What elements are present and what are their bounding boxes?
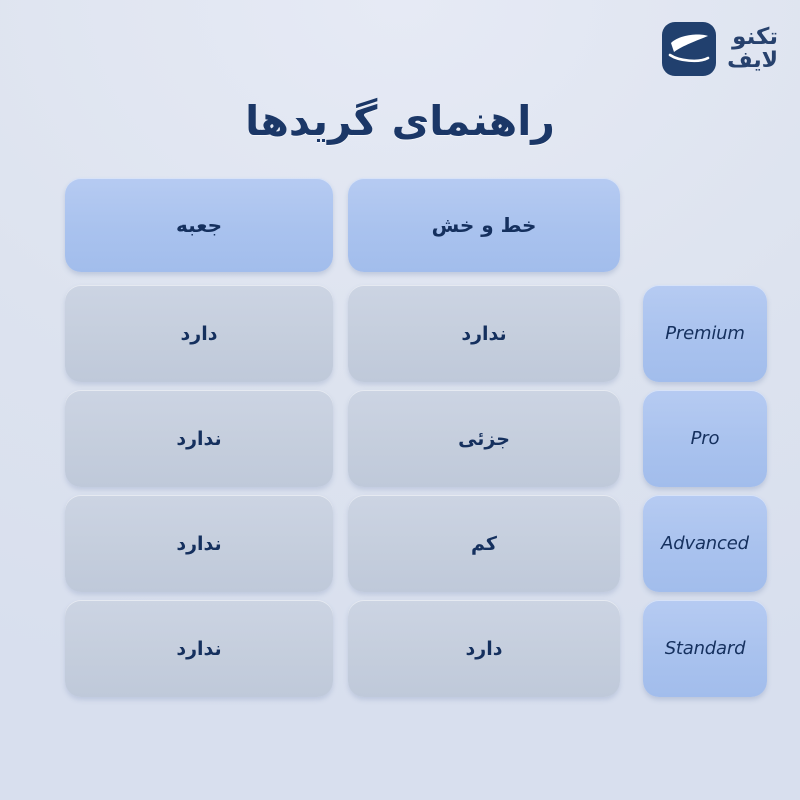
- header-cell-feature-a: جعبه: [65, 178, 333, 272]
- cell-feature-b: کم: [348, 495, 620, 592]
- cell-feature-b: ندارد: [348, 285, 620, 382]
- cell-feature-a: ندارد: [65, 495, 333, 592]
- page-title: راهنمای گریدها: [0, 97, 800, 145]
- table-row: ندارد کم Advanced: [65, 495, 752, 592]
- brand-word-top: تکنو: [732, 26, 778, 49]
- cell-feature-a: ندارد: [65, 600, 333, 697]
- cell-grade-label: Premium: [643, 285, 767, 382]
- brand-word-bottom: لایف: [727, 50, 778, 72]
- techno-life-swoosh-logo-icon: [662, 22, 716, 76]
- cell-grade-label: Advanced: [643, 495, 767, 592]
- table-row: دارد ندارد Premium: [65, 285, 752, 382]
- cell-feature-a: ندارد: [65, 390, 333, 487]
- brand-logo: تکنو لایف: [662, 22, 778, 76]
- cell-feature-b: جزئی: [348, 390, 620, 487]
- cell-feature-a: دارد: [65, 285, 333, 382]
- table-header-row: جعبه خط و خش: [65, 178, 752, 272]
- header-cell-feature-b: خط و خش: [348, 178, 620, 272]
- cell-feature-b: دارد: [348, 600, 620, 697]
- cell-grade-label: Pro: [643, 390, 767, 487]
- grades-comparison-table: جعبه خط و خش دارد ندارد Premium ندارد جز…: [65, 178, 752, 697]
- table-row: ندارد جزئی Pro: [65, 390, 752, 487]
- header-cell-grade-spacer: [643, 178, 767, 272]
- brand-wordmark: تکنو لایف: [727, 26, 778, 73]
- cell-grade-label: Standard: [643, 600, 767, 697]
- table-row: ندارد دارد Standard: [65, 600, 752, 697]
